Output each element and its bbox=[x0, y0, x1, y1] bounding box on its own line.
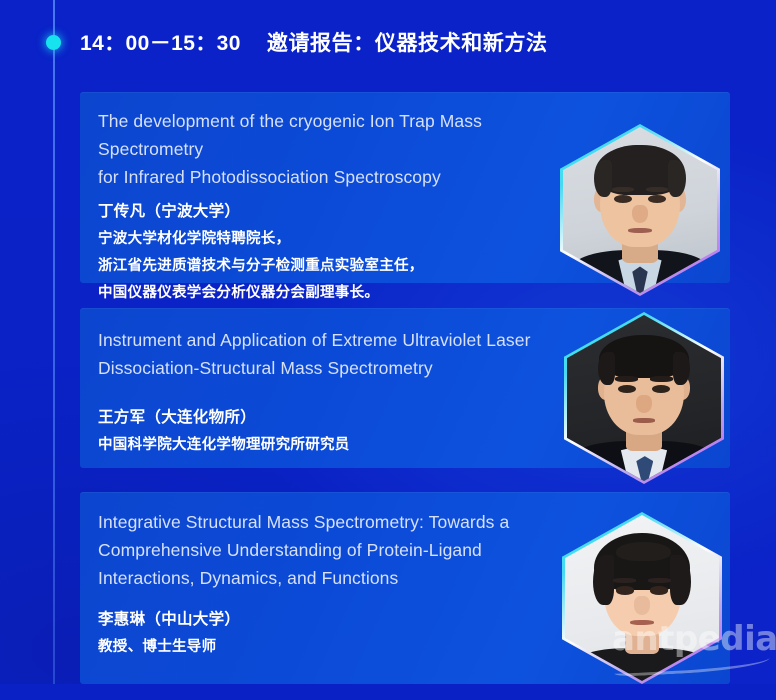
talk-title-line: Comprehensive Understanding of Protein-L… bbox=[98, 536, 568, 564]
talk-title-line: Instrument and Application of Extreme Ul… bbox=[98, 326, 568, 354]
speaker-portrait bbox=[560, 124, 720, 296]
session-title: 邀请报告：仪器技术和新方法 bbox=[267, 27, 548, 57]
speaker-affiliation: 中国仪器仪表学会分析仪器分会副理事长。 bbox=[98, 280, 568, 307]
portrait-face bbox=[563, 127, 717, 293]
portrait-face bbox=[567, 315, 721, 481]
speaker-affiliation: 教授、博士生导师 bbox=[98, 634, 568, 661]
speaker-name: 丁传凡（宁波大学） bbox=[98, 198, 568, 226]
hexagon-frame-photo bbox=[567, 315, 721, 481]
timeline-dot-icon bbox=[46, 35, 61, 50]
speaker-portrait bbox=[564, 312, 724, 484]
talk-title-line: Interactions, Dynamics, and Functions bbox=[98, 564, 568, 592]
talk-card-body: Instrument and Application of Extreme Ul… bbox=[98, 308, 568, 486]
hexagon-frame-photo bbox=[565, 515, 719, 681]
speaker-portrait bbox=[562, 512, 722, 684]
speaker-affiliation: 中国科学院大连化学物理研究所研究员 bbox=[98, 432, 568, 459]
hexagon-frame-photo bbox=[563, 127, 717, 293]
talk-title-line: The development of the cryogenic Ion Tra… bbox=[98, 107, 568, 163]
speaker-affiliation: 浙江省先进质谱技术与分子检测重点实验室主任， bbox=[98, 253, 568, 280]
talk-card-body: Integrative Structural Mass Spectrometry… bbox=[98, 492, 568, 700]
session-time: 14：00－15：30 bbox=[80, 27, 241, 57]
talk-title-line: Dissociation-Structural Mass Spectrometr… bbox=[98, 354, 568, 382]
talk-title-line: Integrative Structural Mass Spectrometry… bbox=[98, 508, 568, 536]
speaker-name: 李惠琳（中山大学） bbox=[98, 606, 568, 634]
talk-card-body: The development of the cryogenic Ion Tra… bbox=[98, 92, 568, 298]
portrait-face bbox=[565, 515, 719, 681]
speaker-name: 王方军（大连化物所） bbox=[98, 404, 568, 432]
session-header: 14：00－15：30 邀请报告：仪器技术和新方法 bbox=[80, 26, 548, 58]
timeline-vertical-line bbox=[53, 0, 55, 684]
speaker-affiliation: 宁波大学材化学院特聘院长， bbox=[98, 226, 568, 253]
talk-title-line: for Infrared Photodissociation Spectrosc… bbox=[98, 163, 568, 191]
